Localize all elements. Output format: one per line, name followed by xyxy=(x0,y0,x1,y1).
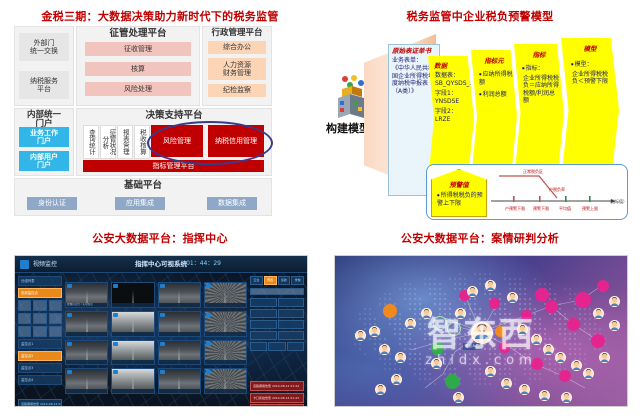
decision-vertical-3[interactable]: 税收核算 xyxy=(134,125,150,159)
command-center-header: 视频监控 指挥中心可视系统 01：44：29 xyxy=(15,256,307,273)
collection-item-0-label: 征收管理 xyxy=(124,45,152,53)
camera-tile[interactable] xyxy=(204,340,247,366)
graph-node-orange[interactable] xyxy=(383,304,397,318)
internal-user-portal-label: 内部用户 门户 xyxy=(30,153,58,169)
graph-node-person[interactable] xyxy=(375,384,386,395)
ptz-row-5[interactable] xyxy=(250,342,304,351)
camera-tag-icon xyxy=(160,284,165,288)
camera-tile[interactable] xyxy=(204,282,247,308)
ptz-tabs[interactable]: 云台 预置 巡航 录像 xyxy=(250,276,304,285)
stage-model-line-1: 企业所得税税负＜预警下限 xyxy=(561,69,619,86)
admin-item-1-label: 人力资源 财务管理 xyxy=(223,61,251,77)
graph-node-orange[interactable] xyxy=(495,326,506,337)
ptz-btn[interactable] xyxy=(278,331,305,340)
quadrant-golden-tax: 金税三期：大数据决策助力新时代下的税务监管 外部门 统一交换 纳税服务 平台 内… xyxy=(0,0,320,225)
graph-node-green[interactable] xyxy=(445,374,460,389)
camera-tag-icon xyxy=(206,370,211,374)
warning-model-diagram: 构建模型 原始表证单书 业务表单： 《中华人民共和国企业所得税年度纳税申报表（A… xyxy=(326,22,638,220)
camera-tile[interactable] xyxy=(111,340,154,366)
thumb[interactable] xyxy=(18,313,31,324)
index-management-bar-label: 指标管理平台 xyxy=(153,162,195,170)
decision-vertical-0-label: 查询统计 xyxy=(88,129,95,155)
business-portal-cell[interactable]: 业务工作 门户 xyxy=(19,127,69,147)
camera-tag-icon xyxy=(206,284,211,288)
external-exchange-cell[interactable]: 外部门 统一交换 xyxy=(19,33,69,61)
graph-node-person[interactable] xyxy=(485,366,496,377)
system-title: 指挥中心可视系统 xyxy=(135,258,187,268)
graph-node-person[interactable] xyxy=(453,392,464,403)
ptz-btn[interactable] xyxy=(278,320,305,329)
golden-tax-title: 金税三期：大数据决策助力新时代下的税务监管 xyxy=(0,8,320,24)
camera-grid[interactable]: 摄像机点位 / 实时预览 xyxy=(65,282,247,394)
ptz-btn[interactable] xyxy=(268,342,285,351)
camera-tile[interactable] xyxy=(111,311,154,337)
stage-data-title: 数据 xyxy=(428,56,474,72)
graph-node-person[interactable] xyxy=(609,320,620,331)
camera-tile[interactable] xyxy=(65,340,108,366)
app-brand-label: 视频监控 xyxy=(33,259,57,268)
graph-node-pink[interactable] xyxy=(531,358,543,370)
decision-vertical-0[interactable]: 查询统计 xyxy=(83,125,99,159)
camera-tile[interactable] xyxy=(158,311,201,337)
camera-tile[interactable] xyxy=(65,368,108,394)
chart-lower-label: 户税负率 xyxy=(549,187,565,193)
ptz-tab-1[interactable]: 预置 xyxy=(264,276,277,285)
graph-node-person[interactable] xyxy=(561,392,572,403)
base-item-2-label: 数据集成 xyxy=(218,199,246,207)
decision-credit-management-label: 纳税信用管理 xyxy=(215,137,257,145)
graph-node-green[interactable] xyxy=(431,342,444,355)
stage-metric-title: 指标 xyxy=(514,44,564,63)
chart-tick-2: 平均值 xyxy=(559,206,571,212)
thumb[interactable] xyxy=(49,300,62,311)
person-face-icon xyxy=(472,323,492,343)
ptz-slider-0[interactable] xyxy=(250,288,304,295)
camera-tile[interactable] xyxy=(204,368,247,394)
app-logo-icon xyxy=(20,260,29,269)
base-item-0-label: 身份认证 xyxy=(38,199,66,207)
camera-tag-icon xyxy=(206,342,211,346)
camera-tile[interactable]: 摄像机点位 / 实时预览 xyxy=(65,282,108,308)
ptz-btn[interactable] xyxy=(250,309,277,318)
graph-node-person[interactable] xyxy=(517,324,528,335)
decision-credit-management[interactable]: 纳税信用管理 xyxy=(208,125,264,157)
graph-node-pink[interactable] xyxy=(521,310,532,321)
threshold-box: 预警值 所得税税负的预警上下限 正常税负区 户税负率 户预警下限 预警下限 平均… xyxy=(426,164,628,220)
graph-node-person[interactable] xyxy=(455,308,466,319)
camera-tag-icon xyxy=(160,313,165,317)
sidebar-status-0[interactable]: 道路拥堵告警 2019-08-12 01:44 xyxy=(18,399,62,407)
clock-display: 01：44：29 xyxy=(186,258,221,267)
thumb[interactable] xyxy=(33,326,46,337)
ptz-tab-2[interactable]: 巡航 xyxy=(278,276,291,285)
admin-platform-title: 行政管理平台 xyxy=(203,27,271,38)
admin-item-2[interactable]: 纪检监察 xyxy=(208,84,266,97)
camera-tile[interactable] xyxy=(65,311,108,337)
graph-node-person[interactable] xyxy=(355,330,366,341)
stage-metric-element-title: 指标元 xyxy=(471,50,517,69)
camera-tag-icon xyxy=(206,313,211,317)
graph-node-person[interactable] xyxy=(543,344,554,355)
stage-metric-element-line-1: 利润总额 xyxy=(471,86,517,99)
ptz-btn[interactable] xyxy=(287,342,304,351)
camera-tile[interactable] xyxy=(204,311,247,337)
collection-item-1-label: 核算 xyxy=(131,65,145,73)
chart-upper-label: 正常税负区 xyxy=(523,169,543,175)
stage-metric-element-chevron[interactable]: 指标元 应纳所得税额 利润总额 xyxy=(471,50,517,182)
graph-node-pink[interactable] xyxy=(535,288,549,302)
camera-thumbnails[interactable] xyxy=(18,300,62,337)
decision-vertical-1[interactable]: 征管状况分析 xyxy=(100,125,116,159)
graph-node-person[interactable] xyxy=(539,390,550,401)
chart-axis-label: （指标值） xyxy=(607,199,627,205)
graph-node-person[interactable] xyxy=(519,384,530,395)
thumb[interactable] xyxy=(18,326,31,337)
left-column-lower-group: 内部统一 门户 业务工作 门户 内部用户 门户 xyxy=(14,108,74,176)
stage-data-line-3: YNSDSE xyxy=(428,98,474,106)
stage-data-line-0: 数据表： xyxy=(428,72,474,80)
alert-item-0[interactable]: 道路拥堵告警 2019-08-12 01:44 xyxy=(250,381,304,391)
collection-item-0[interactable]: 征收管理 xyxy=(85,42,191,56)
graph-node-person[interactable] xyxy=(593,308,604,319)
graph-node-person[interactable] xyxy=(571,360,582,371)
base-platform-group: 基础平台 身份认证 应用集成 数据集成 xyxy=(14,178,272,216)
left-column-upper-group: 外部门 统一交换 纳税服务 平台 xyxy=(14,26,74,106)
business-portal-label: 业务工作 门户 xyxy=(30,129,58,145)
decision-platform-group: 决策支持平台 查询统计 征管状况分析 报表管理 税收核算 风险管理 纳税信用管理… xyxy=(76,108,272,176)
graph-node-person[interactable] xyxy=(467,286,478,297)
taxpayer-service-label: 纳税服务 平台 xyxy=(30,77,58,93)
graph-node-person[interactable] xyxy=(599,352,610,363)
stage-model-line-0: 模型： xyxy=(561,57,619,69)
graph-node-person[interactable] xyxy=(609,296,620,307)
graph-node-pink[interactable] xyxy=(489,298,500,309)
quadrant-warning-model: 税务监管中企业税负预警模型 构建模型 原始表证单书 业务表单： 《中华人民共和国… xyxy=(320,0,640,225)
stage-metric-element-line-0: 应纳所得税额 xyxy=(471,69,517,86)
admin-item-0-label: 综合办公 xyxy=(223,43,251,51)
camera-tile[interactable] xyxy=(158,368,201,394)
graph-node-pink[interactable] xyxy=(567,318,580,331)
graph-node-person[interactable] xyxy=(369,326,380,337)
collection-item-1[interactable]: 核算 xyxy=(85,62,191,76)
ptz-row-1[interactable] xyxy=(250,298,304,307)
relation-graph-title: 公安大数据平台：案情研判分析 xyxy=(320,230,640,246)
collection-item-2-label: 风险处理 xyxy=(124,85,152,93)
sidebar-item-group-list[interactable]: 分组列表 xyxy=(18,276,62,286)
camera-tile[interactable] xyxy=(111,282,154,308)
ptz-btn[interactable] xyxy=(250,342,267,351)
alert-item-1[interactable]: 卡口抓拍告警 2019-08-12 01:43 xyxy=(250,393,304,403)
camera-tile[interactable] xyxy=(158,282,201,308)
decision-vertical-2[interactable]: 报表管理 xyxy=(117,125,133,159)
graph-node-person[interactable] xyxy=(391,374,402,385)
center-node-avatar[interactable] xyxy=(471,322,493,344)
admin-platform-group: 行政管理平台 综合办公 人力资源 财务管理 纪检监察 xyxy=(202,26,272,106)
sidebar-item-camera-4[interactable]: 监控点4 xyxy=(18,375,62,385)
camera-tag-icon xyxy=(113,342,118,346)
camera-tag-icon xyxy=(113,313,118,317)
source-document-title: 原始表证单书 xyxy=(389,45,439,57)
stage-metric-line-1: 企业所得税税负＝应纳所得税额/利润总额 xyxy=(514,73,564,105)
stage-model-title: 模型 xyxy=(561,38,619,57)
graph-node-person[interactable] xyxy=(421,308,432,319)
stage-model-chevron[interactable]: 模型 模型： 企业所得税税负＜预警下限 xyxy=(561,38,619,182)
base-platform-title: 基础平台 xyxy=(15,179,271,191)
graph-node-person[interactable] xyxy=(395,352,406,363)
graph-node-green-ring[interactable] xyxy=(433,316,447,330)
thumb[interactable] xyxy=(49,313,62,324)
camera-tag-icon xyxy=(67,342,72,346)
chart-tick-0: 户预警下限 xyxy=(505,206,525,212)
command-center-title: 公安大数据平台：指挥中心 xyxy=(0,230,320,246)
ptz-btn[interactable] xyxy=(250,320,277,329)
thumb[interactable] xyxy=(33,313,46,324)
thumb[interactable] xyxy=(49,326,62,337)
graph-node-pink[interactable] xyxy=(591,334,605,348)
camera-tag-icon xyxy=(67,370,72,374)
sidebar-item-camera-3[interactable]: 监控点3 xyxy=(18,363,62,373)
camera-tag-icon xyxy=(67,284,72,288)
ptz-tab-3[interactable]: 录像 xyxy=(291,276,304,285)
decision-vertical-1-label: 征管状况分析 xyxy=(101,126,115,158)
ptz-btn[interactable] xyxy=(250,331,277,340)
command-center-screenshot[interactable]: 视频监控 指挥中心可视系统 01：44：29 分组列表 全部监控点 监控点1 监… xyxy=(14,255,308,407)
ptz-row-3[interactable] xyxy=(250,320,304,329)
graph-node-person[interactable] xyxy=(583,368,594,379)
camera-caption: 摄像机点位 / 实时预览 xyxy=(66,303,107,307)
thumb[interactable] xyxy=(33,300,46,311)
collection-platform-title: 征管处理平台 xyxy=(77,27,199,39)
decision-risk-management[interactable]: 风险管理 xyxy=(151,125,203,157)
graph-node-person[interactable] xyxy=(405,318,416,329)
admin-item-0[interactable]: 综合办公 xyxy=(208,41,266,54)
center-node-label: 重点人员 xyxy=(463,343,481,350)
stage-metric-chevron[interactable]: 指标 指标： 企业所得税税负＝应纳所得税额/利润总额 xyxy=(514,44,564,182)
graph-node-pink[interactable] xyxy=(499,342,510,353)
camera-tile[interactable] xyxy=(158,340,201,366)
graph-node-pink[interactable] xyxy=(545,300,558,313)
ptz-btn[interactable] xyxy=(250,298,277,307)
threshold-home-shape[interactable]: 预警值 所得税税负的预警上下限 xyxy=(431,169,487,217)
camera-tag-icon xyxy=(113,370,118,374)
thumb[interactable] xyxy=(18,300,31,311)
index-management-bar[interactable]: 指标管理平台 xyxy=(83,160,264,172)
chart-tick-1: 预警下限 xyxy=(533,206,549,212)
graph-node-person[interactable] xyxy=(431,358,442,369)
base-item-2[interactable]: 数据集成 xyxy=(207,197,257,210)
decision-vertical-2-label: 报表管理 xyxy=(122,129,129,155)
stage-metric-line-0: 指标： xyxy=(514,63,564,73)
decision-risk-management-label: 风险管理 xyxy=(163,137,191,145)
alert-item-2[interactable]: 违章停车告警 2019-08-12 01:41 xyxy=(250,404,304,407)
stage-data-line-2: 字段1： xyxy=(428,87,474,98)
ptz-btn[interactable] xyxy=(278,298,305,307)
camera-list-sidebar[interactable]: 分组列表 全部监控点 监控点1 监控点2 监控点3 监控点4 道路拥堵告警 20… xyxy=(17,274,63,404)
sidebar-item-camera-2[interactable]: 监控点2 xyxy=(18,351,62,361)
admin-item-2-label: 纪检监察 xyxy=(223,86,251,94)
graph-node-green-ring[interactable] xyxy=(447,322,461,336)
architecture-diagram: 外部门 统一交换 纳税服务 平台 内部统一 门户 业务工作 门户 内部用户 门户… xyxy=(14,26,304,216)
ptz-btn[interactable] xyxy=(278,309,305,318)
graph-node-person[interactable] xyxy=(485,280,496,291)
ptz-tab-0[interactable]: 云台 xyxy=(250,276,263,285)
threshold-title: 预警值 xyxy=(432,170,486,192)
decision-platform-title: 决策支持平台 xyxy=(77,109,271,121)
stage-data-line-1: SB_QYSDS_2008_ND xyxy=(428,80,474,88)
collection-item-2[interactable]: 风险处理 xyxy=(85,82,191,96)
graph-node-pink[interactable] xyxy=(597,280,609,292)
chart-tick-3: 预警上限 xyxy=(582,206,598,212)
graph-node-person[interactable] xyxy=(379,344,390,355)
camera-tile[interactable] xyxy=(111,368,154,394)
graph-node-pink[interactable] xyxy=(575,292,591,308)
graph-node-pink[interactable] xyxy=(559,370,571,382)
camera-tag-icon xyxy=(160,370,165,374)
camera-tag-icon xyxy=(113,284,118,288)
admin-item-1[interactable]: 人力资源 财务管理 xyxy=(208,58,266,80)
graph-node-person[interactable] xyxy=(501,378,512,389)
camera-tag-icon xyxy=(67,313,72,317)
base-item-0[interactable]: 身份认证 xyxy=(27,197,77,210)
relation-graph-screenshot[interactable]: 重点人员 智东西 zhidx.com xyxy=(334,255,628,407)
graph-node-person[interactable] xyxy=(555,352,566,363)
graph-node-person[interactable] xyxy=(507,292,518,303)
external-exchange-label: 外部门 统一交换 xyxy=(30,39,58,55)
internal-user-portal-cell[interactable]: 内部用户 门户 xyxy=(19,151,69,171)
taxpayer-service-cell[interactable]: 纳税服务 平台 xyxy=(19,71,69,99)
base-item-1-label: 应用集成 xyxy=(126,199,154,207)
sidebar-item-all-cameras[interactable]: 全部监控点 xyxy=(18,288,62,298)
collection-platform-group: 征管处理平台 征收管理 核算 风险处理 xyxy=(76,26,200,106)
stage-data-line-4: 字段2： xyxy=(428,105,474,116)
ptz-row-4[interactable] xyxy=(250,331,304,340)
ptz-row-2[interactable] xyxy=(250,309,304,318)
ptz-control-panel[interactable]: 云台 预置 巡航 录像 道路拥堵告警 2019-08-12 01:44 卡口抓拍… xyxy=(249,274,305,404)
stage-data-line-5: LRZE xyxy=(428,116,474,124)
sidebar-item-camera-1[interactable]: 监控点1 xyxy=(18,339,62,349)
graph-node-person[interactable] xyxy=(531,334,542,345)
decision-vertical-3-label: 税收核算 xyxy=(139,129,146,155)
camera-tag-icon xyxy=(160,342,165,346)
threshold-line-0: 所得税税负的预警上下限 xyxy=(432,192,486,207)
base-item-1[interactable]: 应用集成 xyxy=(115,197,165,210)
